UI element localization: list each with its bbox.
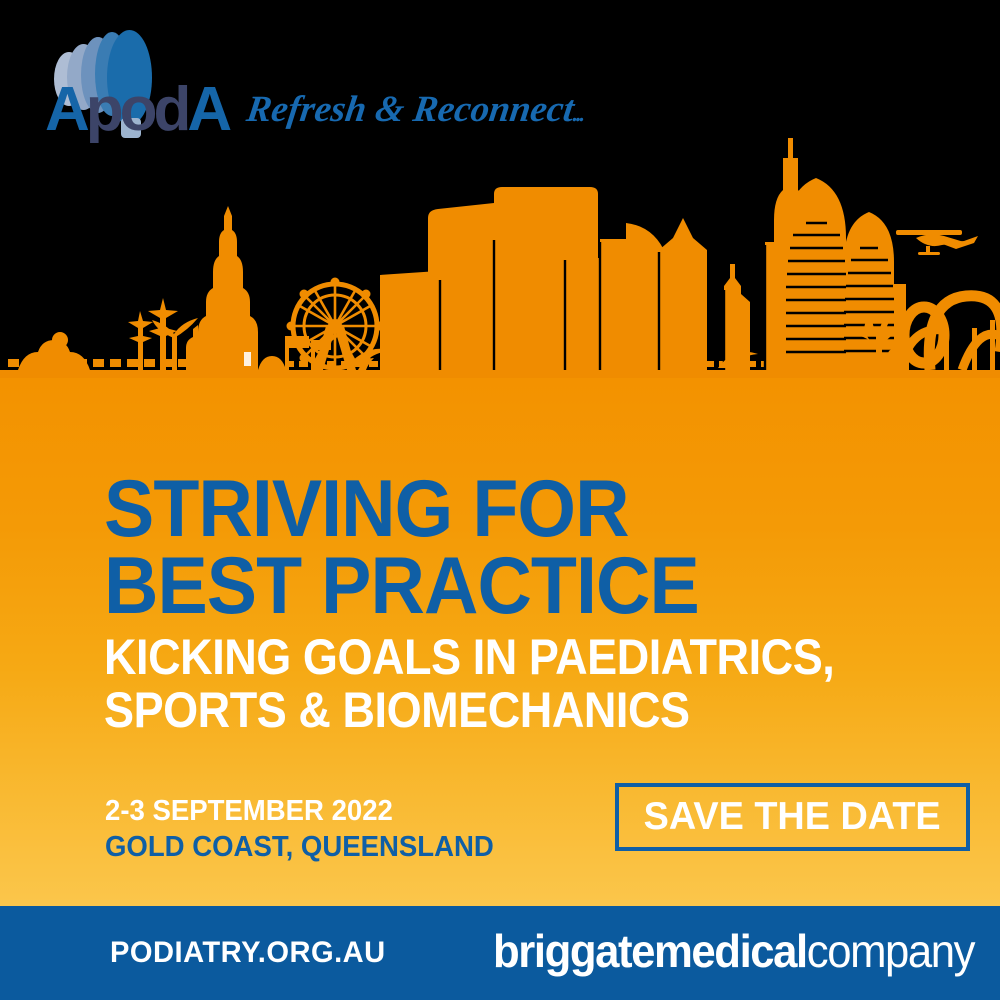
sponsor-name-bold: briggatemedical	[493, 925, 807, 977]
main-content-panel: STRIVING FOR BEST PRACTICE KICKING GOALS…	[0, 378, 1000, 906]
ferris-wheel	[287, 278, 384, 375]
gold-coast-skyline	[0, 130, 1000, 385]
ornate-tower	[186, 206, 258, 370]
header-zone: ApodA Refresh & Reconnect...	[0, 0, 1000, 150]
shore-rocks	[18, 332, 90, 370]
save-the-date-label: SAVE THE DATE	[644, 795, 941, 839]
save-the-date-poster: ApodA Refresh & Reconnect...	[0, 0, 1000, 1000]
subhead-line-1: KICKING GOALS IN PAEDIATRICS,	[104, 631, 914, 684]
shrubs-right-of-tower	[258, 356, 286, 370]
apoda-logo: ApodA	[45, 30, 235, 135]
roller-coaster	[900, 296, 1000, 370]
page-title: STRIVING FOR BEST PRACTICE	[104, 471, 867, 625]
event-location: GOLD COAST, QUEENSLAND	[105, 829, 494, 865]
briggate-medical-company-logo: briggatemedicalcompany	[493, 928, 974, 974]
save-the-date-button[interactable]: SAVE THE DATE	[615, 783, 970, 851]
headline-line-1: STRIVING FOR	[104, 471, 867, 548]
event-details: 2-3 SEPTEMBER 2022 GOLD COAST, QUEENSLAN…	[105, 793, 494, 866]
footer-website-link[interactable]: PODIATRY.ORG.AU	[110, 936, 386, 970]
brand-tagline: Refresh & Reconnect...	[244, 88, 587, 131]
sponsor-name-light: company	[807, 925, 974, 977]
apoda-wordmark: ApodA	[45, 82, 235, 137]
subhead-line-2: SPORTS & BIOMECHANICS	[104, 684, 914, 737]
footer-bar: PODIATRY.ORG.AU briggatemedicalcompany	[0, 906, 1000, 1000]
page-subtitle: KICKING GOALS IN PAEDIATRICS, SPORTS & B…	[104, 631, 914, 737]
helicopter-icon	[896, 230, 978, 255]
tagline-ellipsis: ...	[571, 101, 585, 126]
event-date: 2-3 SEPTEMBER 2022	[105, 793, 494, 829]
headline-line-2: BEST PRACTICE	[104, 548, 867, 625]
tagline-text: Refresh & Reconnect	[244, 89, 577, 130]
